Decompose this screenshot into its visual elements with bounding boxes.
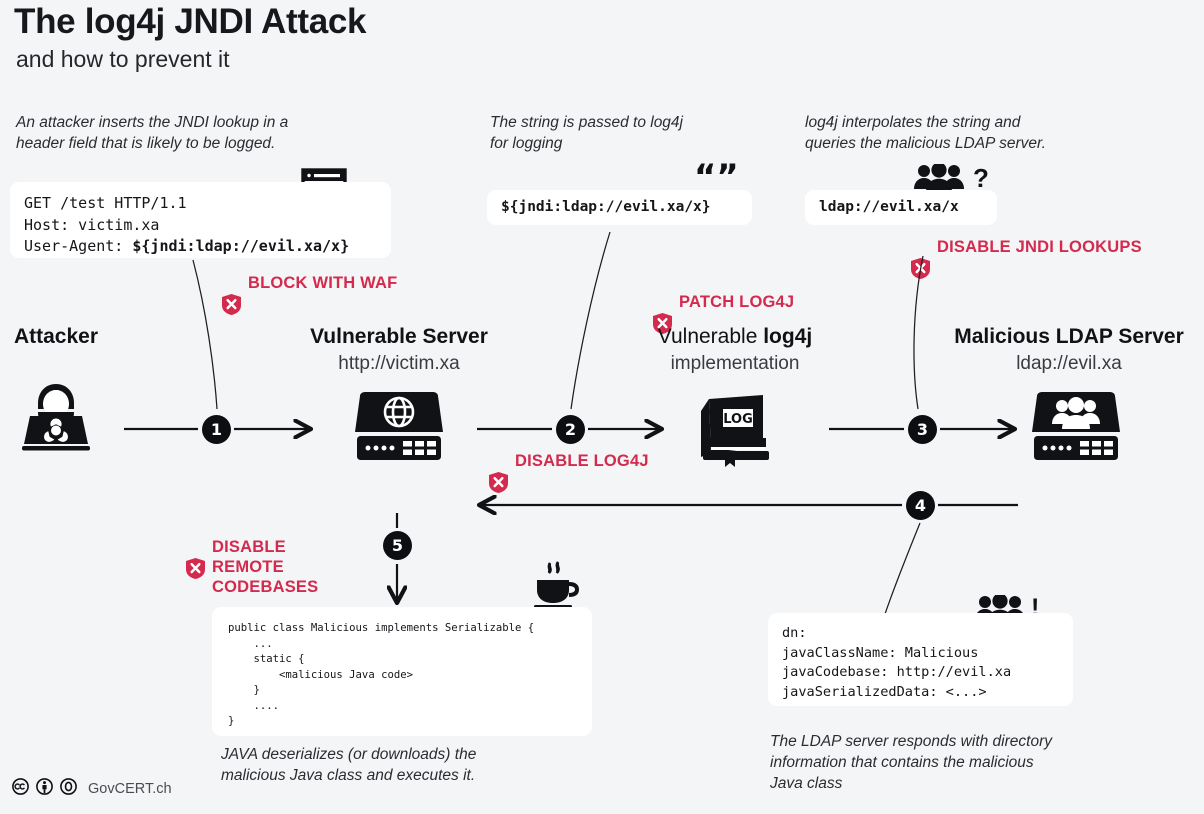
infographic-canvas: The log4j JNDI Attack and how to prevent… — [0, 0, 1204, 814]
caption-java-deserializes: JAVA deserializes (or downloads) the mal… — [221, 744, 601, 786]
ldap-response-code: dn: javaClassName: Malicious javaCodebas… — [782, 624, 1059, 702]
java-class-code: public class Malicious implements Serial… — [228, 621, 576, 730]
caption-ldap-responds: The LDAP server responds with directory … — [770, 731, 1110, 794]
cc-icon — [12, 778, 29, 800]
ldap-response-codebox: dn: javaClassName: Malicious javaCodebas… — [768, 613, 1073, 706]
footer: GovCERT.ch — [12, 778, 172, 800]
footer-brand: GovCERT.ch — [88, 781, 172, 797]
step-badge-1: 1 — [202, 415, 231, 444]
step-badge-4: 4 — [906, 491, 935, 520]
cc-zero-icon — [60, 778, 77, 800]
step-badge-3: 3 — [908, 415, 937, 444]
java-class-codebox: public class Malicious implements Serial… — [212, 607, 592, 736]
step-badge-2: 2 — [556, 415, 585, 444]
step-badge-5: 5 — [383, 531, 412, 560]
cc-by-icon — [36, 778, 53, 800]
